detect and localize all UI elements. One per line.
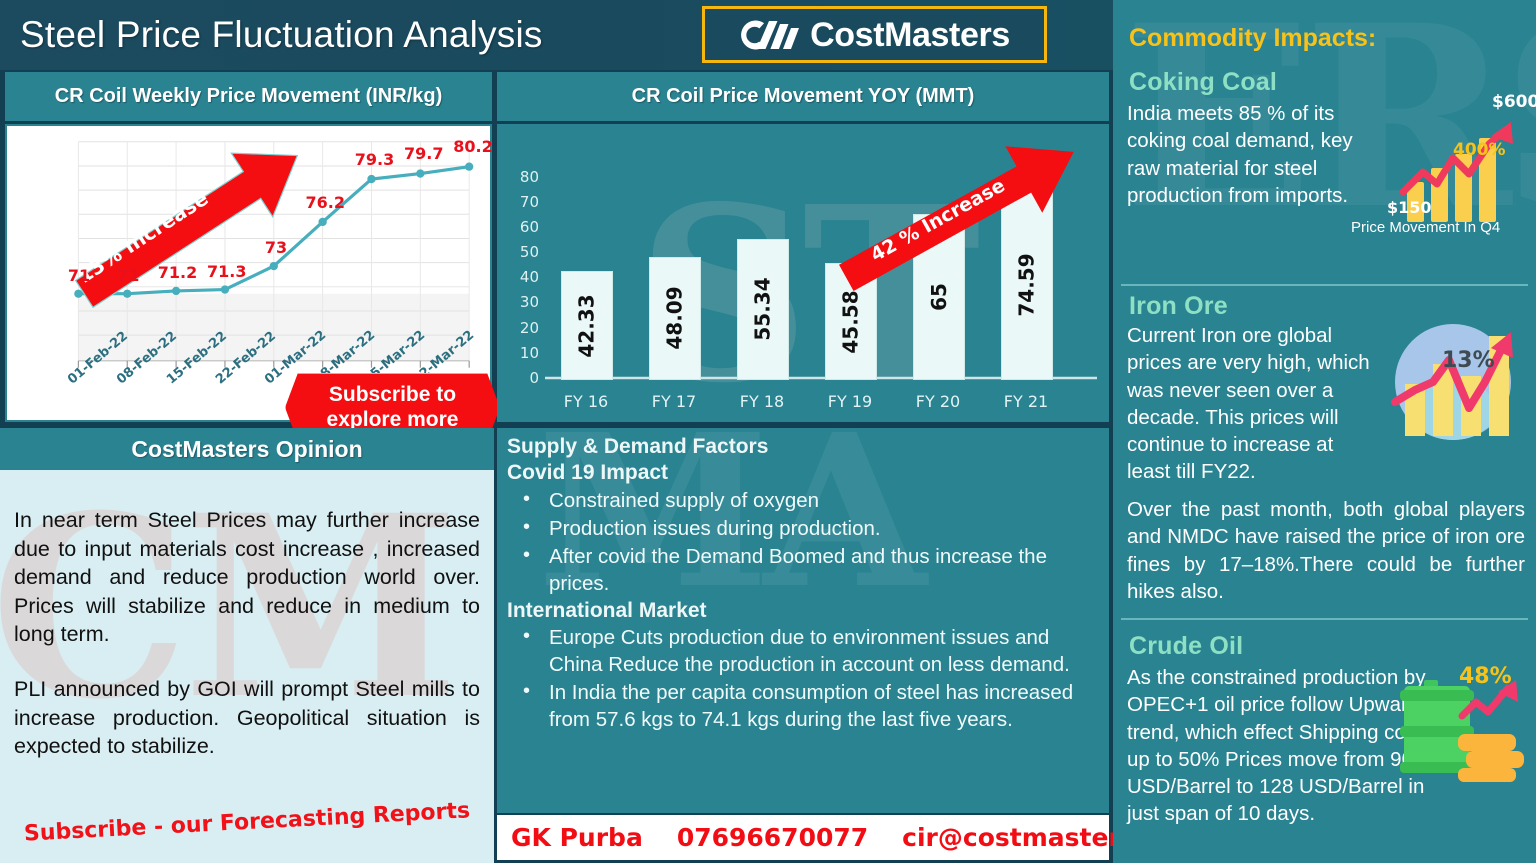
opinion-panel: CM In near term Steel Prices may further…	[0, 470, 494, 863]
contact-name: GK Purba	[511, 823, 643, 852]
supply-subheading-covid: Covid 19 Impact	[507, 460, 1099, 486]
sidebar-body-coking-coal: India meets 85 % of its coking coal dema…	[1127, 100, 1389, 209]
sidebar-body-iron-ore: Current Iron ore global prices are very …	[1127, 322, 1377, 486]
commodity-impacts-sidebar: ERS Commodity Impacts: Coking Coal India…	[1113, 0, 1536, 863]
bar-y-tick: 20	[505, 319, 539, 337]
bar-chart-bar: 42.33	[561, 271, 613, 380]
bar-x-label: FY 19	[828, 392, 872, 411]
page-title: Steel Price Fluctuation Analysis	[20, 14, 543, 56]
opinion-title: CostMasters Opinion	[0, 428, 494, 470]
bar-value-label: 48.09	[663, 287, 687, 350]
subscribe-callout-line1: Subscribe to	[329, 383, 456, 407]
brand-logo: CostMasters	[702, 6, 1047, 63]
line-point-label: 76.2	[306, 193, 345, 212]
supply-bullets-covid: Constrained supply of oxygenProduction i…	[507, 487, 1099, 597]
bar-y-tick: 60	[505, 218, 539, 236]
supply-bullet-item: Europe Cuts production due to environmen…	[507, 624, 1099, 678]
supply-bullets-international: Europe Cuts production due to environmen…	[507, 624, 1099, 733]
sidebar-heading-coking-coal: Coking Coal	[1129, 68, 1277, 97]
supply-subheading-intl: International Market	[507, 598, 1099, 624]
bar-x-label: FY 16	[564, 392, 608, 411]
line-point-label: 71.3	[207, 262, 246, 281]
supply-demand-panel: MA Supply & Demand Factors Covid 19 Impa…	[497, 428, 1109, 813]
supply-bullet-item: Constrained supply of oxygen	[507, 487, 1099, 514]
line-chart-title: CR Coil Weekly Price Movement (INR/kg)	[5, 72, 492, 121]
costmasters-c-slash-logo	[739, 16, 801, 54]
line-point-label: 71.2	[158, 263, 197, 282]
bar-x-label: FY 17	[652, 392, 696, 411]
bar-y-tick: 40	[505, 268, 539, 286]
contact-phone[interactable]: 07696670077	[677, 823, 868, 852]
supply-bullet-item: Production issues during production.	[507, 515, 1099, 542]
bar-chart-title: CR Coil Price Movement YOY (MMT)	[497, 72, 1109, 121]
line-point-label: 71	[68, 266, 90, 285]
bar-chart-bar: 55.34	[737, 239, 789, 380]
bar-chart-bar: 48.09	[649, 257, 701, 380]
line-point-label: 71	[117, 266, 139, 285]
brand-logo-text: CostMasters	[810, 18, 1010, 52]
contact-bar: GK Purba 07696670077 cir@costmasters.in	[497, 815, 1109, 860]
bar-y-tick: 50	[505, 243, 539, 261]
crude-oil-pct-label: 48%	[1459, 664, 1512, 689]
bar-x-label: FY 20	[916, 392, 960, 411]
supply-bullet-item: After covid the Demand Boomed and thus i…	[507, 543, 1099, 597]
bar-y-tick: 70	[505, 193, 539, 211]
weekly-price-line-chart: 13% Increase 717171.271.37376.279.379.78…	[5, 124, 492, 422]
sidebar-body-crude-oil: As the constrained production by OPEC+1 …	[1127, 664, 1427, 828]
bar-x-label: FY 18	[740, 392, 784, 411]
opinion-subscribe-line[interactable]: Subscribe - our Forecasting Reports	[0, 797, 494, 848]
opinion-paragraph-2: PLI announced by GOI will prompt Steel m…	[0, 675, 494, 761]
supply-bullet-item: In India the per capita consumption of s…	[507, 679, 1099, 733]
coking-coal-pct-label: 400%	[1453, 140, 1506, 160]
yoy-price-bar-chart: ST 01020304050607080 42.3348.0955.3445.5…	[497, 124, 1109, 422]
opinion-paragraph-1: In near term Steel Prices may further in…	[0, 506, 494, 649]
sidebar-divider-1	[1121, 284, 1528, 286]
line-point-label: 79.7	[404, 144, 443, 163]
bar-x-label: FY 21	[1004, 392, 1048, 411]
sidebar-divider-2	[1121, 618, 1528, 620]
bar-value-label: 42.33	[575, 294, 599, 357]
bar-value-label: 55.34	[751, 278, 775, 341]
coking-coal-high-label: $600	[1492, 92, 1536, 112]
coking-coal-low-label: $150	[1387, 198, 1432, 217]
sidebar-heading-crude-oil: Crude Oil	[1129, 632, 1243, 661]
line-point-label: 80.2	[453, 137, 492, 156]
iron-ore-pct-label: 13%	[1442, 348, 1495, 373]
line-point-label: 79.3	[355, 150, 394, 169]
sidebar-body-iron-ore-2: Over the past month, both global players…	[1127, 496, 1525, 605]
oil-barrel-coins-icon	[1396, 672, 1526, 792]
bar-y-tick: 30	[505, 293, 539, 311]
bar-y-tick: 10	[505, 344, 539, 362]
bar-y-tick: 0	[505, 369, 539, 387]
sidebar-heading-iron-ore: Iron Ore	[1129, 292, 1228, 321]
bar-value-label: 45.58	[839, 290, 863, 353]
line-point-label: 73	[265, 238, 287, 257]
supply-heading: Supply & Demand Factors	[507, 434, 1099, 460]
infographic-page: Steel Price Fluctuation Analysis CostMas…	[0, 0, 1536, 863]
bar-y-tick: 80	[505, 168, 539, 186]
pie-bar-chart-icon	[1385, 320, 1530, 450]
coking-coal-caption: Price Movement In Q4	[1351, 219, 1500, 236]
sidebar-title: Commodity Impacts:	[1129, 24, 1376, 53]
